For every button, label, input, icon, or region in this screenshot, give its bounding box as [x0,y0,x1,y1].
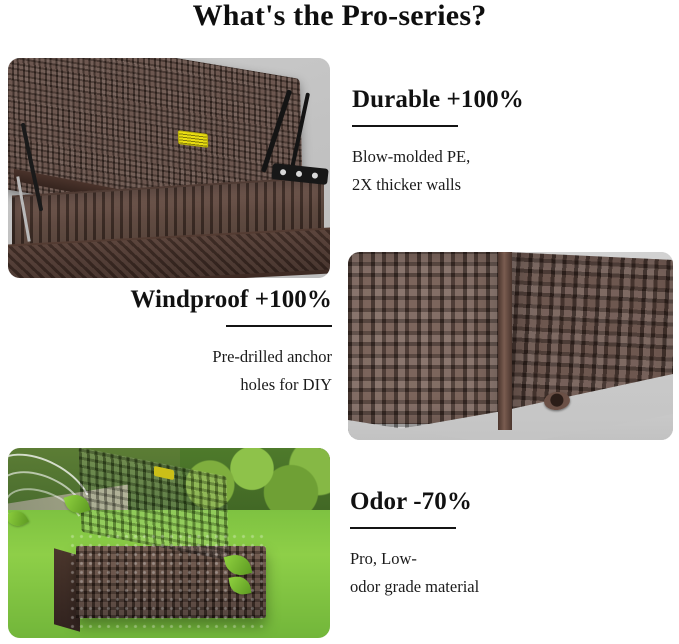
feature-image-odor [8,448,330,638]
feature-body-durable: Blow-molded PE, 2X thicker walls [352,143,652,199]
heading-rule [226,325,332,327]
heading-rule [352,125,458,127]
page-title: What's the Pro-series? [0,0,679,35]
feature-block-odor: Odor -70% Pro, Low- odor grade material [350,486,650,601]
feature-body-windproof: Pre-drilled anchor holes for DIY [40,343,332,399]
heading-rule [350,527,456,529]
feature-body-odor: Pro, Low- odor grade material [350,545,650,601]
feature-image-durable [8,58,330,278]
corner-post [498,252,512,430]
feature-block-durable: Durable +100% Blow-molded PE, 2X thicker… [352,84,652,199]
feature-block-windproof: Windproof +100% Pre-drilled anchor holes… [40,284,332,399]
wicker-texture-left [348,252,508,438]
feature-heading-odor: Odor -70% [350,486,650,518]
feature-image-windproof [348,252,673,440]
infographic-page: What's the Pro-series? Durable +100% Blo… [0,0,679,644]
feature-heading-windproof: Windproof +100% [40,284,332,316]
feature-heading-durable: Durable +100% [352,84,652,116]
